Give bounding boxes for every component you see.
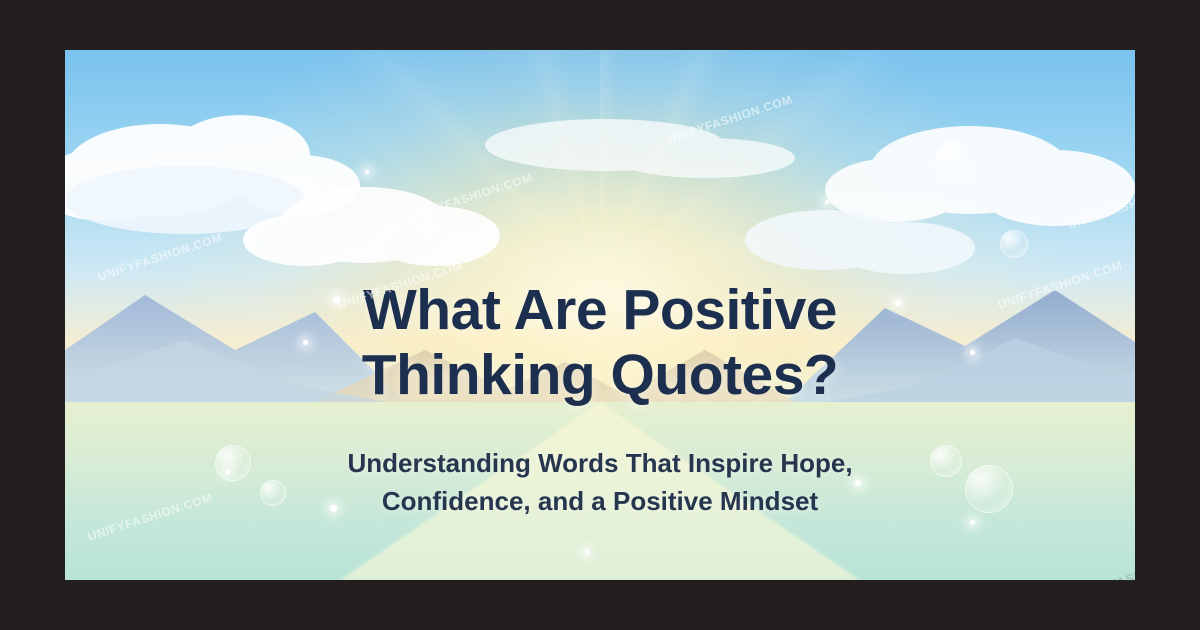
bubble-icon [935,140,977,182]
title-line-1: What Are Positive [65,278,1135,343]
page-subtitle: Understanding Words That Inspire Hope, C… [65,445,1135,520]
subtitle-line-2: Confidence, and a Positive Mindset [65,483,1135,521]
sparkle-icon [585,550,589,554]
page-title: What Are Positive Thinking Quotes? [65,278,1135,408]
sparkle-icon [425,225,430,230]
bubble-icon [1000,230,1028,258]
banner-stage: What Are Positive Thinking Quotes? Under… [0,0,1200,630]
sparkle-icon [365,170,369,174]
title-line-2: Thinking Quotes? [65,343,1135,408]
sparkle-icon [970,520,975,525]
hero-card: What Are Positive Thinking Quotes? Under… [65,50,1135,580]
subtitle-line-1: Understanding Words That Inspire Hope, [65,445,1135,483]
sparkle-icon [825,200,829,204]
